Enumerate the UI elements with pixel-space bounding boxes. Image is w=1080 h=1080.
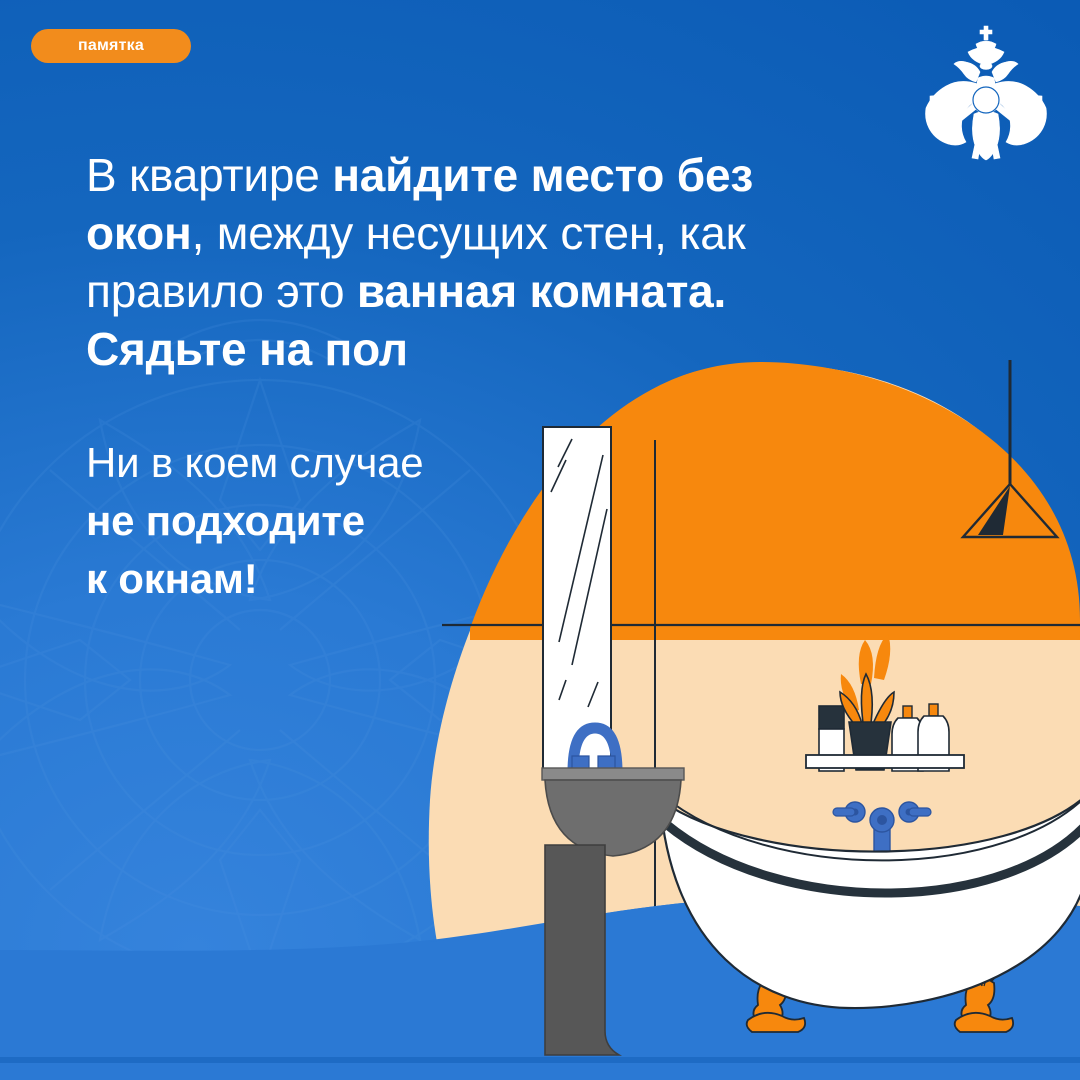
headline-bold3: ванная комната.: [357, 265, 726, 317]
wall-shelf: [806, 755, 964, 768]
headline-bold2: окон: [86, 207, 192, 259]
poster-canvas: памятка: [0, 0, 1080, 1080]
headline-part1: В квартире: [86, 149, 332, 201]
subline-bold1: не подходите: [86, 492, 556, 550]
subline-bold2: к окнам!: [86, 550, 556, 608]
sink-counter: [542, 768, 684, 780]
headline-text: В квартире найдите место без окон, между…: [86, 146, 806, 378]
subline-text: Ни в коем случае не подходите к окнам!: [86, 434, 556, 608]
headline-bold1: найдите место без: [332, 149, 753, 201]
headline-bold4: Сядьте на пол: [86, 323, 408, 375]
subline-part1: Ни в коем случае: [86, 439, 423, 486]
floor-baseline: [0, 1057, 1080, 1063]
